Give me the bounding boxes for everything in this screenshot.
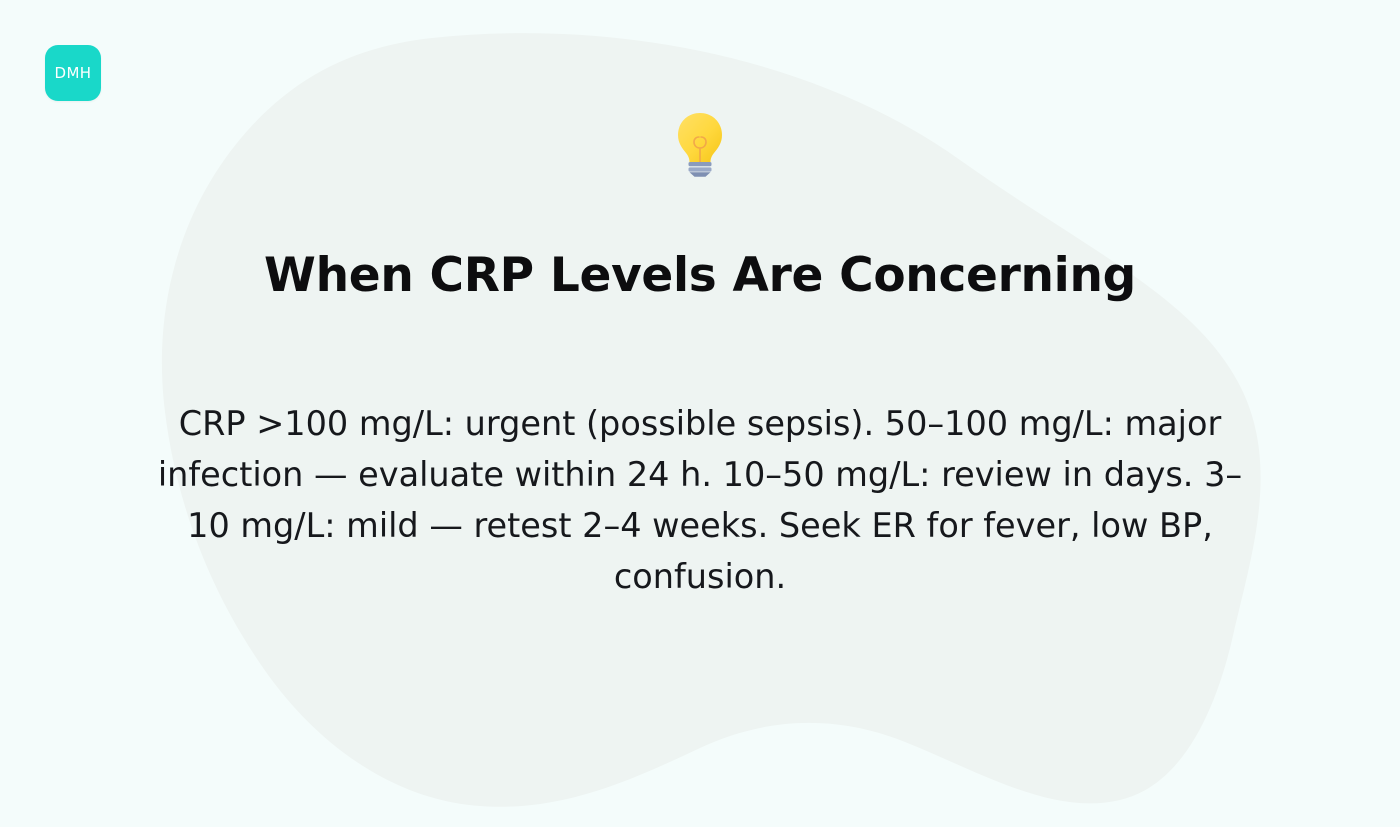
- slide-content: When CRP Levels Are Concerning CRP >100 …: [0, 0, 1400, 827]
- page-title: When CRP Levels Are Concerning: [100, 250, 1300, 303]
- slide-canvas: DMH When CRP Levels Are Concerning: [0, 0, 1400, 827]
- body-text: CRP >100 mg/L: urgent (possible sepsis).…: [155, 398, 1245, 602]
- lightbulb-icon: [676, 112, 724, 178]
